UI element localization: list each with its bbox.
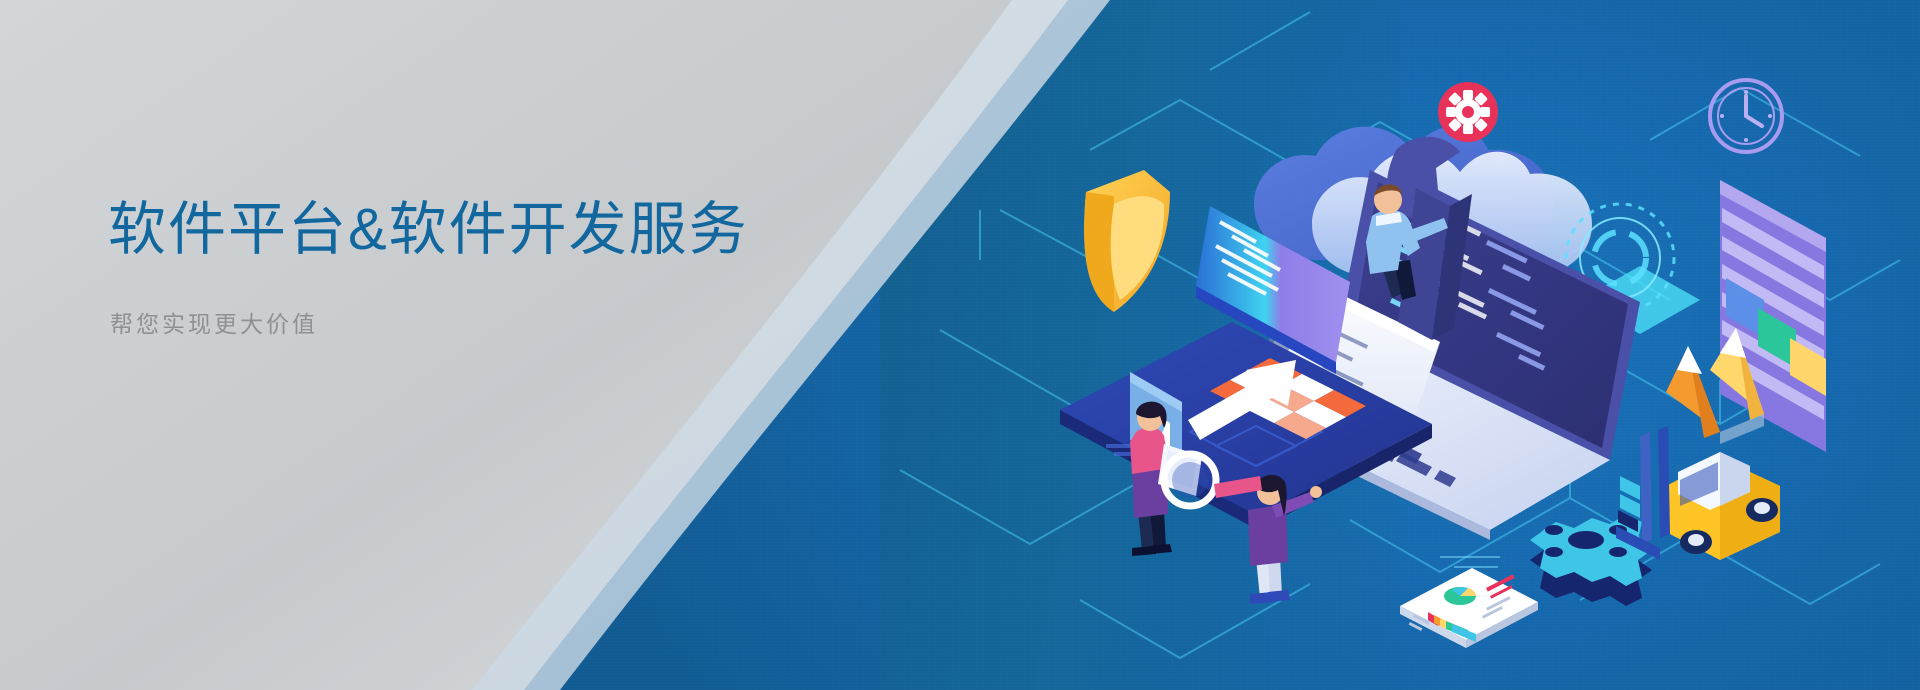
clock-icon [1710, 80, 1782, 152]
news-pie-chart [1444, 587, 1476, 605]
page-subtitle: 帮您实现更大价值 [110, 305, 868, 339]
analyst-figure-purple [1248, 475, 1322, 604]
hero-banner: 软件平台&软件开发服务 帮您实现更大价值 [0, 0, 1920, 690]
news-report-card [1400, 568, 1538, 648]
gear-badge-icon [1438, 82, 1498, 142]
document-wall-panel [1720, 180, 1826, 452]
page-title: 软件平台&软件开发服务 [108, 198, 868, 263]
background-curve-sweep [0, 0, 1250, 690]
forklift-vehicle [1616, 426, 1780, 560]
banner-copy: 软件平台&软件开发服务 帮您实现更大价值 [108, 198, 868, 339]
